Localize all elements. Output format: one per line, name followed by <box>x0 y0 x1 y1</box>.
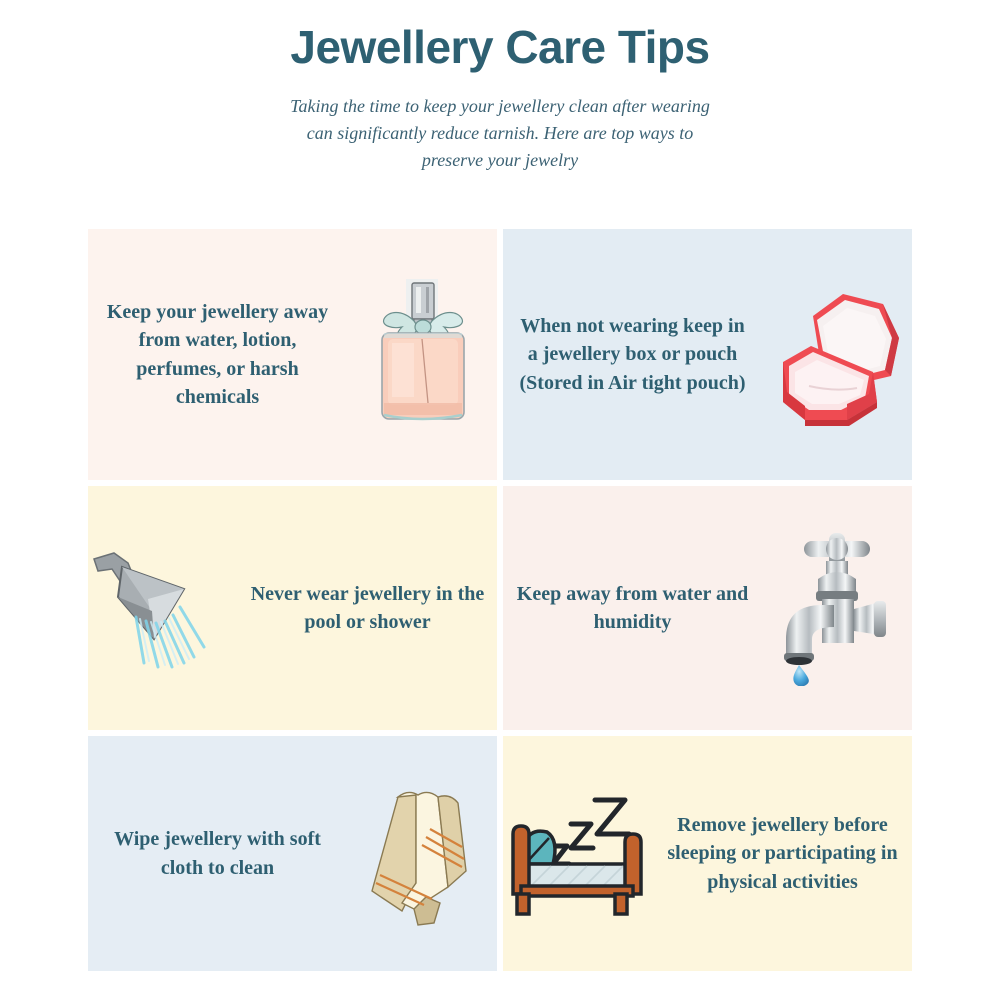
tip-card-text: When not wearing keep in a jewellery box… <box>503 312 762 397</box>
perfume-bottle-icon <box>362 275 482 435</box>
tip-card-shower[interactable]: Never wear jewellery in the pool or show… <box>88 486 497 730</box>
tip-card-faucet[interactable]: Keep away from water and humidity <box>503 486 912 730</box>
tip-card-perfume[interactable]: Keep your jewellery away from water, lot… <box>88 229 497 480</box>
header: Jewellery Care Tips Taking the time to k… <box>0 0 1000 174</box>
card-art <box>347 736 497 971</box>
tip-card-text: Wipe jewellery with soft cloth to clean <box>88 825 347 882</box>
card-art <box>347 229 497 480</box>
infographic-page: Jewellery Care Tips Taking the time to k… <box>0 0 1000 1000</box>
page-subtitle: Taking the time to keep your jewellery c… <box>275 93 725 174</box>
ring-box-icon <box>765 280 910 430</box>
tip-card-sleep[interactable]: Remove jewellery before sleeping or part… <box>503 736 912 971</box>
bed-sleep-icon <box>503 790 653 918</box>
card-art <box>762 229 912 480</box>
tip-card-cloth[interactable]: Wipe jewellery with soft cloth to clean <box>88 736 497 971</box>
tip-card-text: Never wear jewellery in the pool or show… <box>238 580 497 637</box>
tip-card-text: Keep your jewellery away from water, lot… <box>88 298 347 412</box>
shower-head-icon <box>88 533 238 683</box>
tip-card-jewellery-box[interactable]: When not wearing keep in a jewellery box… <box>503 229 912 480</box>
faucet-drip-icon <box>772 531 902 686</box>
tip-card-text: Remove jewellery before sleeping or part… <box>653 811 912 896</box>
polishing-cloth-icon <box>362 779 482 929</box>
tip-card-text: Keep away from water and humidity <box>503 580 762 637</box>
page-title: Jewellery Care Tips <box>0 20 1000 75</box>
tips-grid: Keep your jewellery away from water, lot… <box>88 229 912 971</box>
card-art <box>88 486 238 730</box>
card-art <box>762 486 912 730</box>
card-art <box>503 736 653 971</box>
